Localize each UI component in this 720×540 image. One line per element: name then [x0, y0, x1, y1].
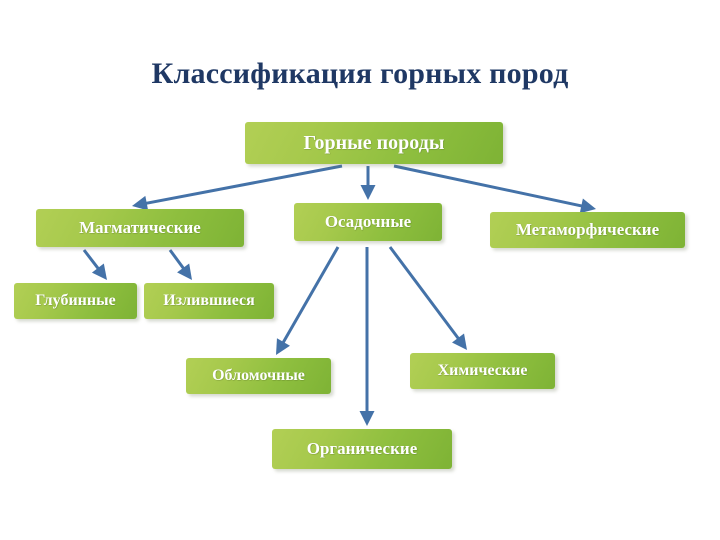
edge-sed-clastic — [276, 247, 338, 355]
edge-sed-chemical — [390, 247, 467, 350]
node-label: Химические — [438, 362, 528, 380]
node-sedimentary[interactable]: Осадочные — [294, 203, 442, 241]
arrow-shaft — [394, 166, 583, 206]
arrow-shaft — [170, 250, 184, 270]
node-label: Излившиеся — [163, 292, 255, 310]
arrow-head — [360, 411, 375, 426]
node-clastic[interactable]: Обломочные — [186, 358, 331, 394]
edge-rock-sedimentary — [361, 166, 376, 200]
node-label: Метаморфические — [516, 220, 659, 240]
arrow-head — [361, 185, 376, 200]
node-volcanic[interactable]: Излившиеся — [144, 283, 274, 319]
node-label: Глубинные — [35, 292, 115, 310]
node-rock[interactable]: Горные породы — [245, 122, 503, 164]
node-label: Органические — [307, 439, 418, 459]
node-metamorphic[interactable]: Метаморфические — [490, 212, 685, 248]
arrow-head — [92, 264, 107, 280]
edge-magmatic-plutonic — [84, 250, 107, 280]
page-title: Классификация горных пород — [0, 57, 720, 91]
edge-magmatic-volcanic — [170, 250, 192, 280]
node-plutonic[interactable]: Глубинные — [14, 283, 137, 319]
arrow-shaft — [282, 247, 338, 344]
node-label: Обломочные — [212, 367, 305, 385]
arrow-head — [580, 199, 596, 214]
arrow-head — [452, 333, 467, 350]
node-label: Магматические — [79, 218, 201, 238]
node-organic[interactable]: Органические — [272, 429, 452, 469]
node-label: Осадочные — [325, 212, 411, 232]
diagram-canvas: Классификация горных пород Горные породы… — [0, 0, 720, 540]
arrow-head — [276, 338, 290, 355]
arrow-head — [177, 263, 192, 280]
node-magmatic[interactable]: Магматические — [36, 209, 244, 247]
edge-sed-organic — [360, 247, 375, 426]
arrow-shaft — [145, 166, 342, 204]
node-chemical[interactable]: Химические — [410, 353, 555, 389]
arrow-shaft — [390, 247, 459, 340]
node-label: Горные породы — [304, 132, 445, 155]
arrow-shaft — [84, 250, 99, 270]
